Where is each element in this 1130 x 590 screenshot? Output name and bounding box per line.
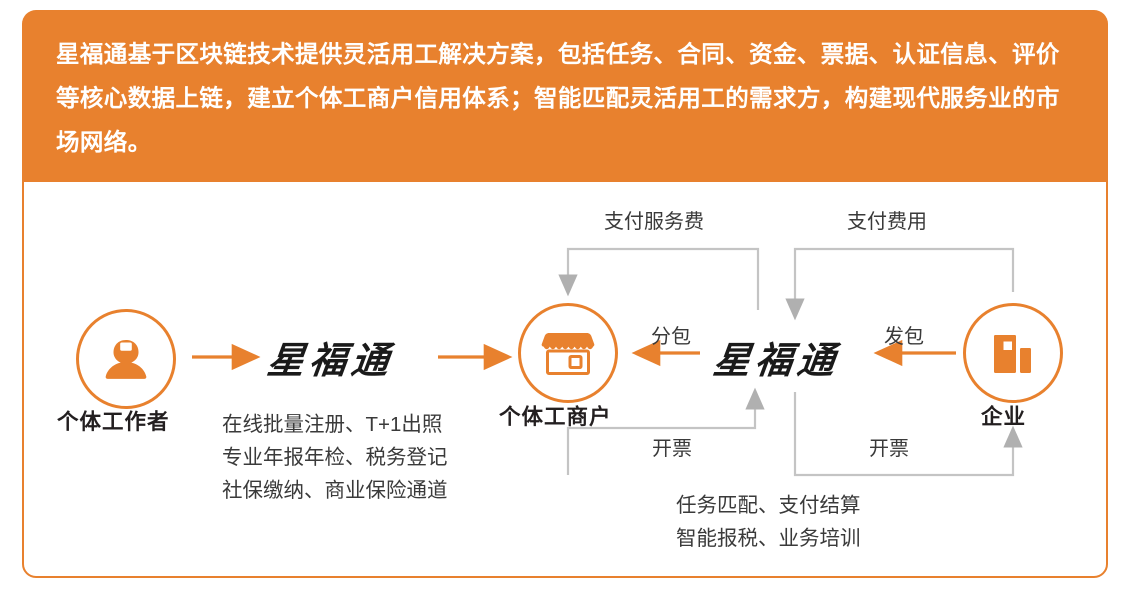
brand-wordmark-left: 星福通 [265, 330, 398, 384]
person-icon [99, 332, 153, 386]
node-label-enterprise: 企业 [981, 400, 1026, 431]
node-individual-worker[interactable] [76, 309, 176, 409]
edge-label-pay-fee: 支付费用 [847, 205, 927, 234]
header-banner: 星福通基于区块链技术提供灵活用工解决方案，包括任务、合同、资金、票据、认证信息、… [22, 10, 1108, 182]
banner-text: 星福通基于区块链技术提供灵活用工解决方案，包括任务、合同、资金、票据、认证信息、… [56, 32, 1074, 164]
edge-label-issue-contract: 发包 [884, 320, 924, 349]
infographic-root: 星福通基于区块链技术提供灵活用工解决方案，包括任务、合同、资金、票据、认证信息、… [0, 0, 1130, 590]
node-individual-merchant[interactable] [518, 303, 618, 403]
storefront-icon [541, 329, 595, 377]
edge-label-invoice-right: 开票 [869, 432, 909, 461]
node-label-individual-merchant: 个体工商户 [499, 400, 612, 431]
brand-wordmark-middle: 星福通 [711, 330, 844, 384]
services-list-bottom: 任务匹配、支付结算 智能报税、业务培训 [676, 489, 861, 555]
edge-label-subcontract: 分包 [651, 320, 691, 349]
edge-label-invoice-left: 开票 [652, 432, 692, 461]
buildings-icon [989, 329, 1037, 377]
services-list-left: 在线批量注册、T+1出照 专业年报年检、税务登记 社保缴纳、商业保险通道 [222, 408, 448, 507]
node-label-individual-worker: 个体工作者 [57, 405, 170, 436]
node-enterprise[interactable] [963, 303, 1063, 403]
edge-label-pay-service-fee: 支付服务费 [604, 205, 704, 234]
